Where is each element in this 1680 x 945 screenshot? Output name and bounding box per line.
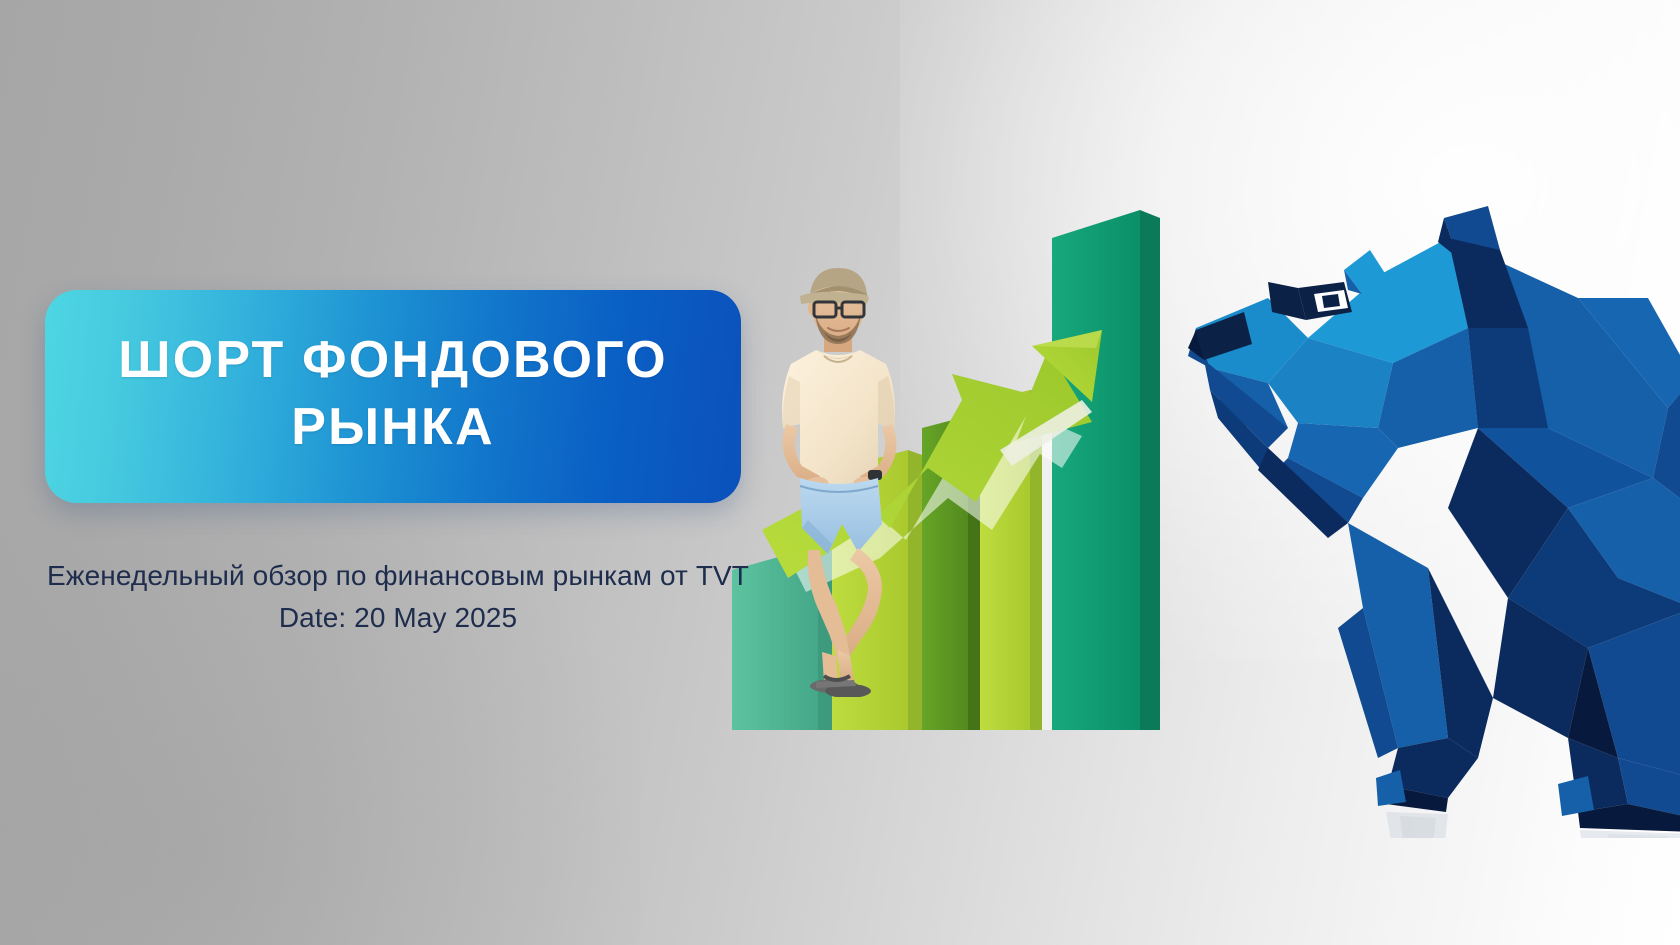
man-sitting-figure: [758, 252, 943, 697]
man-legs: [808, 548, 882, 682]
man-head: [800, 268, 869, 352]
subtitle-block: Еженедельный обзор по финансовым рынкам …: [28, 556, 768, 638]
subtitle-description: Еженедельный обзор по финансовым рынкам …: [28, 556, 768, 596]
bear-body: [1188, 206, 1680, 838]
subtitle-date: Date: 20 May 2025: [28, 598, 768, 638]
low-poly-bear-graphic: [1148, 178, 1680, 838]
wristwatch-icon: [868, 470, 882, 480]
man-shorts: [800, 478, 882, 554]
title-banner: ШОРТ ФОНДОВОГО РЫНКА: [45, 290, 741, 503]
man-sandals: [810, 676, 871, 697]
bar-5: [1052, 210, 1160, 730]
title-line-2: РЫНКА: [291, 394, 494, 461]
title-line-1: ШОРТ ФОНДОВОГО: [118, 327, 668, 394]
presentation-slide: ШОРТ ФОНДОВОГО РЫНКА Еженедельный обзор …: [0, 0, 1680, 945]
